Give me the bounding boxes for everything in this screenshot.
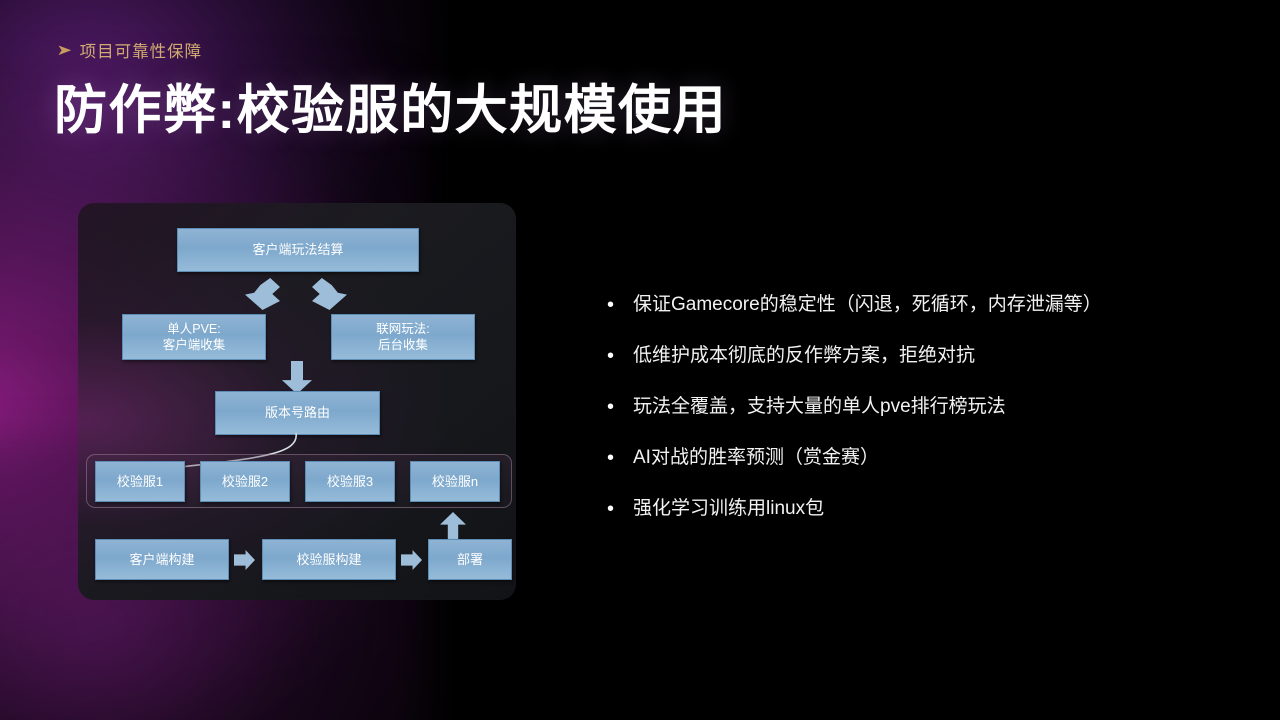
arrow-down-right-icon — [312, 278, 347, 310]
bullet-text: AI对战的胜率预测（赏金赛） — [633, 445, 879, 471]
list-item: • 玩法全覆盖，支持大量的单人pve排行榜玩法 — [607, 394, 1227, 445]
arrow-up-icon — [440, 512, 466, 540]
bullet-marker-icon: • — [607, 292, 633, 318]
list-item: • AI对战的胜率预测（赏金赛） — [607, 445, 1227, 496]
node-version-router[interactable]: 版本号路由 — [215, 391, 380, 435]
bullet-text: 玩法全覆盖，支持大量的单人pve排行榜玩法 — [633, 394, 1006, 420]
presentation-slide: ➤ 项目可靠性保障 防作弊:校验服的大规模使用 客户端玩法结算 单人PVE: 客… — [0, 0, 1280, 720]
arrow-right-icon-2 — [401, 550, 422, 570]
node-verify-server-3[interactable]: 校验服3 — [305, 461, 395, 502]
node-verify-server-1[interactable]: 校验服1 — [95, 461, 185, 502]
arrow-right-triangle-icon: ➤ — [56, 43, 72, 58]
slide-eyebrow-label: 项目可靠性保障 — [80, 38, 203, 62]
architecture-diagram-panel: 客户端玩法结算 单人PVE: 客户端收集 联网玩法: 后台收集 版本号路由 校验… — [78, 203, 516, 600]
slide-eyebrow: ➤ 项目可靠性保障 — [58, 38, 202, 62]
bullet-text: 强化学习训练用linux包 — [633, 496, 824, 522]
bullet-text: 低维护成本彻底的反作弊方案，拒绝对抗 — [633, 343, 975, 369]
node-verify-build[interactable]: 校验服构建 — [262, 539, 396, 580]
list-item: • 强化学习训练用linux包 — [607, 496, 1227, 547]
node-deploy[interactable]: 部署 — [428, 539, 512, 580]
node-single-pve[interactable]: 单人PVE: 客户端收集 — [122, 314, 266, 360]
bullet-marker-icon: • — [607, 445, 633, 471]
page-title: 防作弊:校验服的大规模使用 — [54, 68, 727, 144]
bullet-marker-icon: • — [607, 496, 633, 522]
node-client-build[interactable]: 客户端构建 — [95, 539, 229, 580]
node-online-play[interactable]: 联网玩法: 后台收集 — [331, 314, 475, 360]
node-verify-server-2[interactable]: 校验服2 — [200, 461, 290, 502]
arrow-down-left-icon — [245, 278, 280, 310]
bullet-marker-icon: • — [607, 394, 633, 420]
arrow-right-icon-1 — [234, 550, 255, 570]
arrow-down-icon — [282, 361, 312, 394]
bullet-marker-icon: • — [607, 343, 633, 369]
bullet-list: • 保证Gamecore的稳定性（闪退，死循环，内存泄漏等） • 低维护成本彻底… — [607, 292, 1227, 547]
node-verify-server-n[interactable]: 校验服n — [410, 461, 500, 502]
list-item: • 低维护成本彻底的反作弊方案，拒绝对抗 — [607, 343, 1227, 394]
list-item: • 保证Gamecore的稳定性（闪退，死循环，内存泄漏等） — [607, 292, 1227, 343]
node-client-settlement[interactable]: 客户端玩法结算 — [177, 228, 419, 272]
bullet-text: 保证Gamecore的稳定性（闪退，死循环，内存泄漏等） — [633, 292, 1102, 318]
